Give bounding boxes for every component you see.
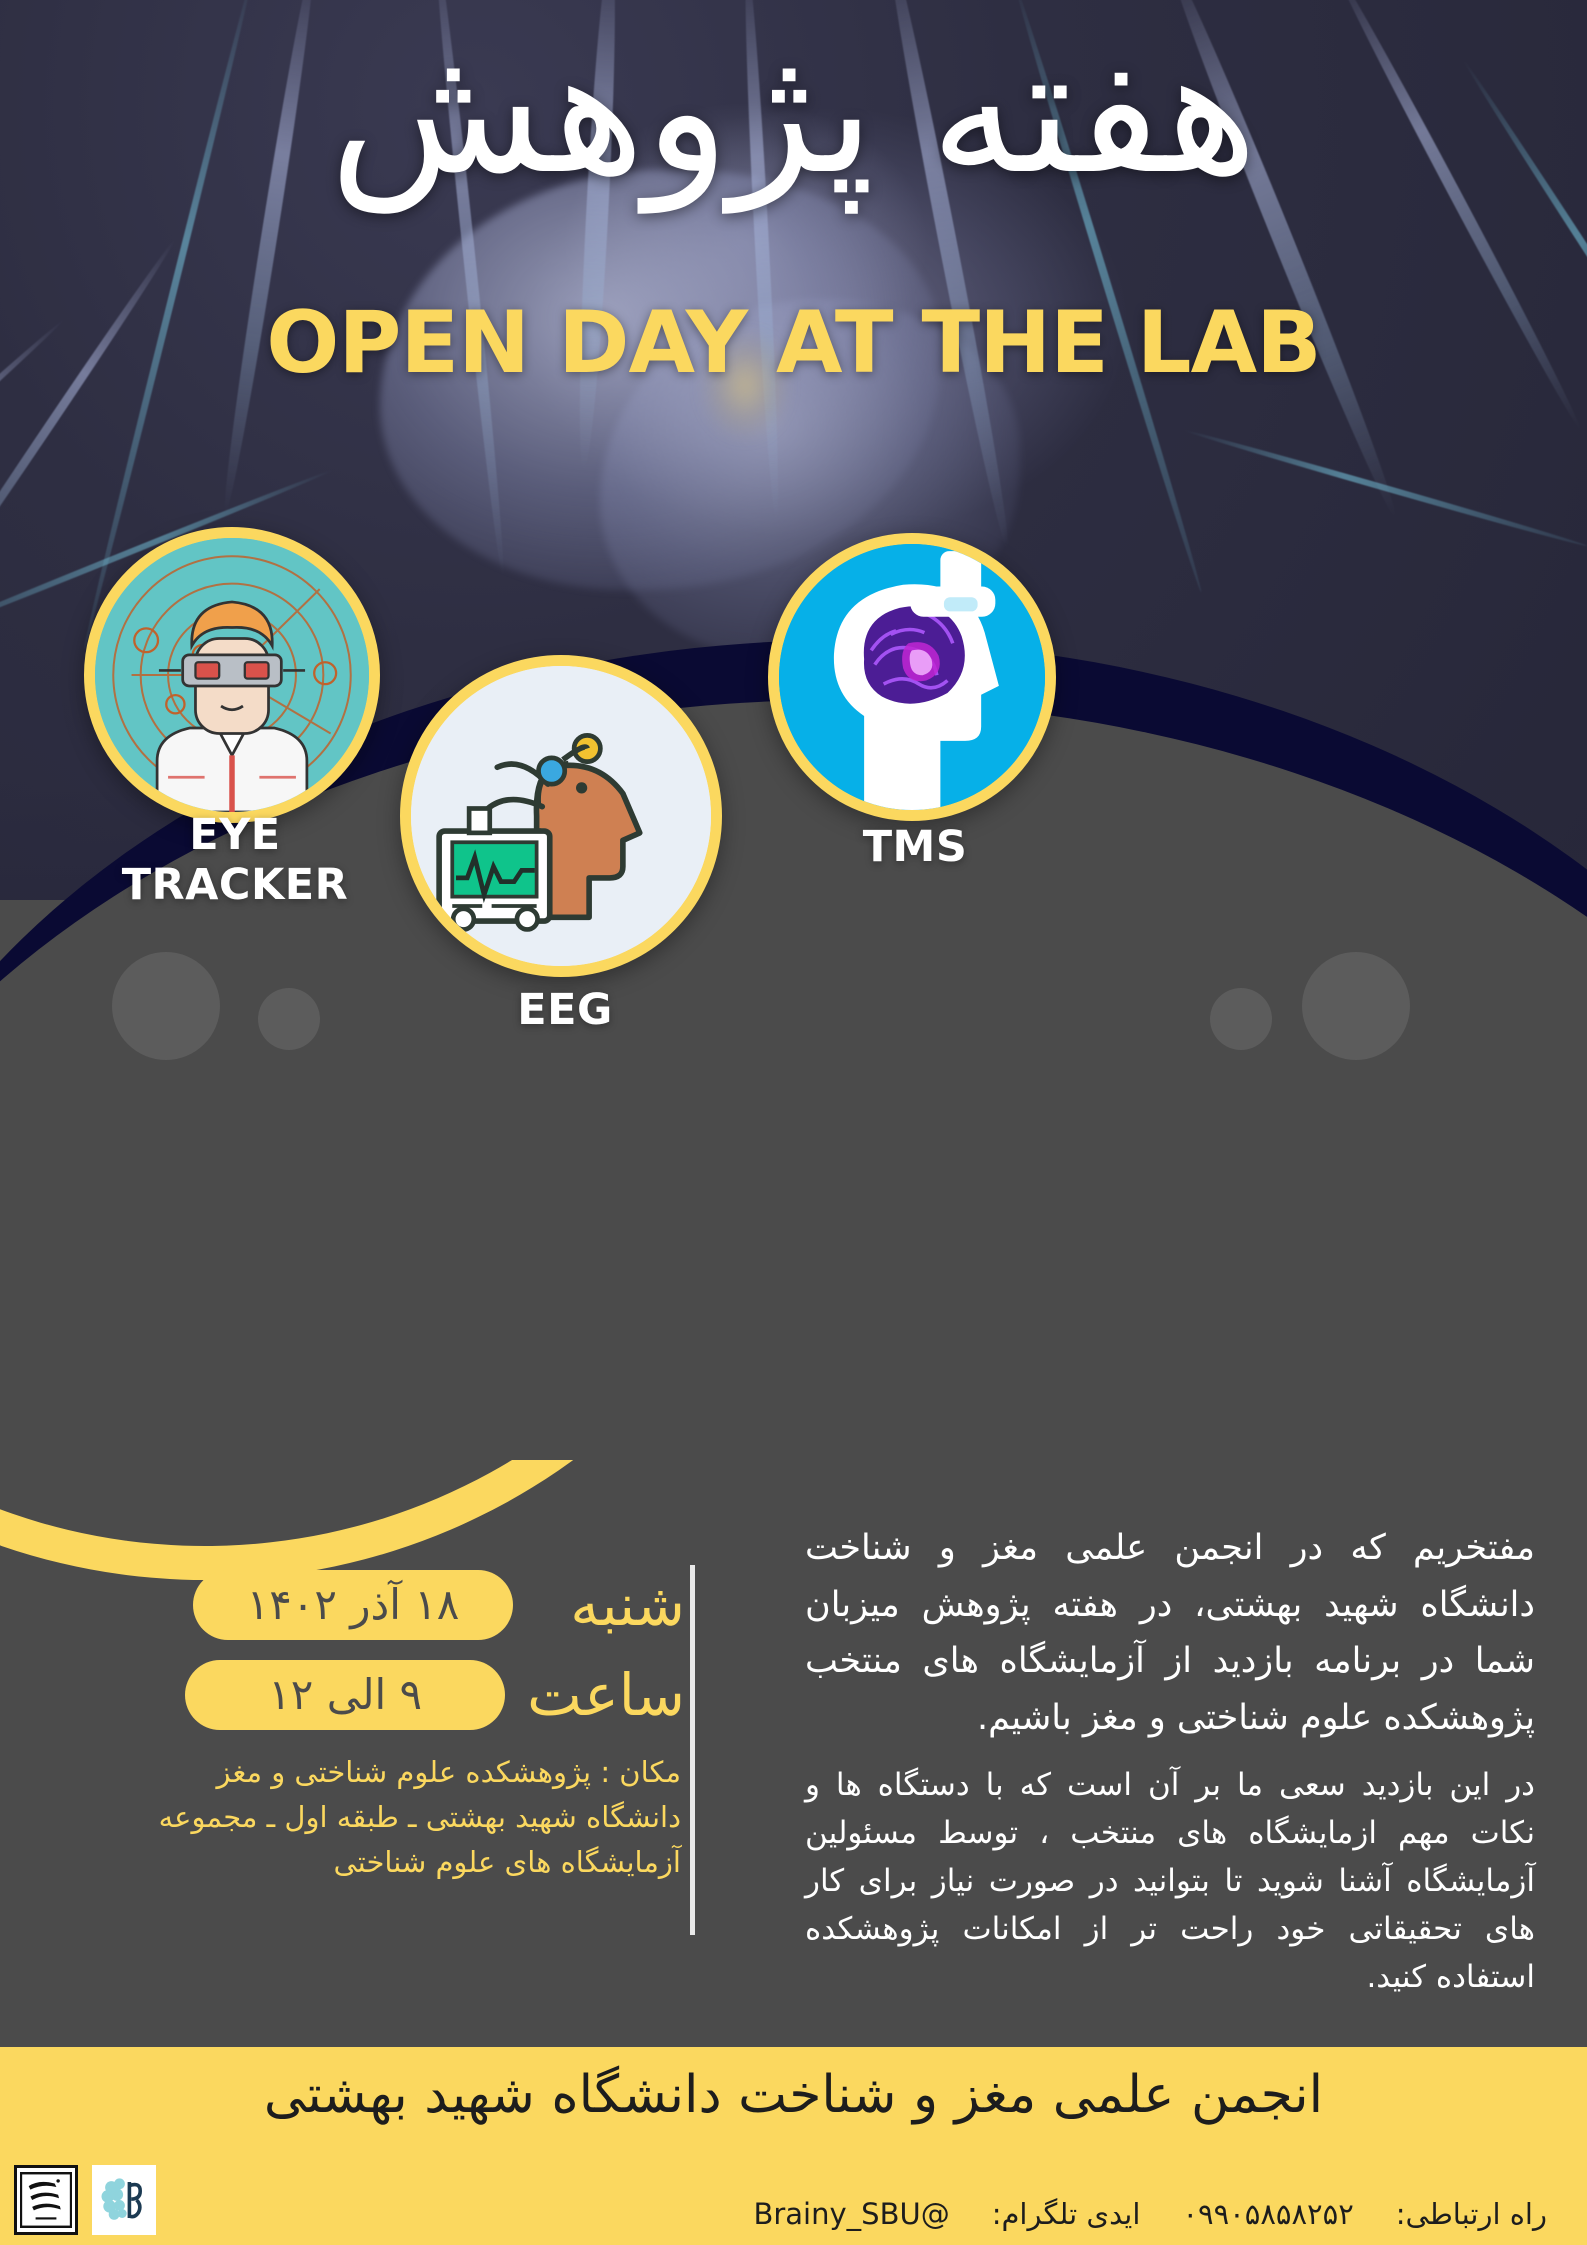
circle-label-eye-tracker: EYE TRACKER [75,810,395,910]
description-paragraph-1: مفتخریم که در انجمن علمی مغز و شناخت دان… [805,1520,1535,1747]
place-line-2: دانشگاه شهید بهشتی ـ طبقه اول ـ مجموعه [55,1795,685,1840]
sbu-logo-glyph [20,2172,72,2228]
decorative-dot [112,952,220,1060]
telegram-handle[interactable]: @Brainy_SBU [753,2197,949,2231]
eeg-headset-icon [411,666,711,966]
description-block: مفتخریم که در انجمن علمی مغز و شناخت دان… [805,1520,1535,2001]
time-label: ساعت [527,1666,685,1724]
contact-row: راه ارتباطی: ۰۹۹۰۵۸۵۸۲۵۲ ایدی تلگرام: @B… [753,2197,1547,2231]
telegram-label: ایدی تلگرام: [992,2197,1141,2231]
poster-root: هفته پژوهش OPEN DAY AT THE LAB [0,0,1587,2245]
place-line-3: آزمایشگاه های علوم شناختی [55,1840,685,1885]
organization-title: انجمن علمی مغز و شناخت دانشگاه شهید بهشت… [0,2065,1587,2125]
brain-association-logo [92,2165,156,2235]
circle-label-eeg: EEG [440,985,690,1035]
decorative-dot [1210,988,1272,1050]
circle-label-tms: TMS [790,822,1040,872]
description-paragraph-2: در این بازدید سعی ما بر آن است که با دست… [805,1761,1535,2001]
schedule-block: ۱۸ آذر ۱۴۰۲ شنبه ۹ الی ۱۲ ساعت مکان : پژ… [55,1570,685,1885]
day-label: شنبه [535,1576,685,1634]
vertical-divider [690,1565,695,1935]
eye-tracker-icon [95,538,369,812]
footer-logos [14,2165,156,2235]
tms-coil-brain-icon [779,544,1045,810]
decorative-dot [1302,952,1410,1060]
sbu-university-logo [14,2165,78,2235]
brain-logo-glyph [97,2173,151,2227]
phone-label: راه ارتباطی: [1396,2197,1547,2231]
footer-bar: انجمن علمی مغز و شناخت دانشگاه شهید بهشت… [0,2047,1587,2245]
neuron-fiber [1182,427,1587,549]
place-line-1: مکان : پژوهشکده علوم شناختی و مغز [55,1750,685,1795]
time-row: ۹ الی ۱۲ ساعت [55,1660,685,1730]
date-pill: ۱۸ آذر ۱۴۰۲ [193,1570,513,1640]
page-title-persian: هفته پژوهش [0,24,1587,199]
icon-circle-eeg[interactable] [400,655,722,977]
icon-circle-eye-tracker[interactable] [84,527,380,823]
phone-value[interactable]: ۰۹۹۰۵۸۵۸۲۵۲ [1182,2197,1353,2231]
icon-circle-tms[interactable] [768,533,1056,821]
time-pill: ۹ الی ۱۲ [185,1660,505,1730]
date-row: ۱۸ آذر ۱۴۰۲ شنبه [55,1570,685,1640]
page-subtitle-english: OPEN DAY AT THE LAB [0,300,1587,386]
decorative-dot [258,988,320,1050]
